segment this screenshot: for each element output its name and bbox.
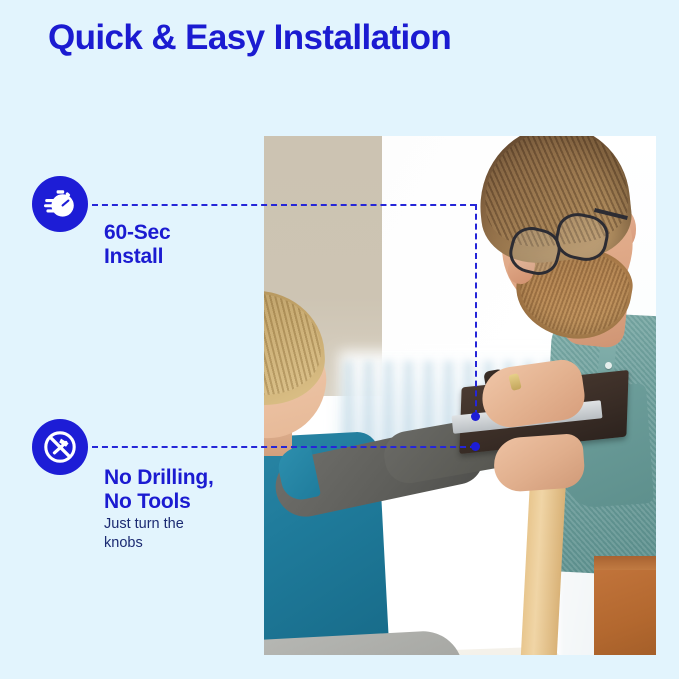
stopwatch-speed-icon [43,187,77,221]
connector-endpoint-feature-2 [471,442,480,451]
photo-man-button-bottom [605,362,612,369]
product-photo [264,136,656,655]
feature-2-subtext: Just turn the knobs [104,515,184,553]
feature-2-heading-line1: No Drilling, [104,466,214,490]
feature-2-heading-line2: No Tools [104,490,214,514]
feature-2-subtext-line2: knobs [104,534,184,553]
infographic-page: Quick & Easy Installation [0,0,679,679]
photo-man-pants [594,556,656,655]
connector-line-feature-1-vertical [475,204,477,416]
connector-line-feature-1-horizontal [92,204,476,206]
feature-badge-no-tools[interactable] [32,419,88,475]
no-hammer-icon [42,429,78,465]
feature-2-subtext-line1: Just turn the [104,515,184,534]
feature-badge-speed[interactable] [32,176,88,232]
photo-man-waistband [594,556,656,570]
connector-endpoint-feature-1 [471,412,480,421]
photo-man-hand-lower [492,433,586,493]
feature-1-heading-line2: Install [104,245,171,269]
connector-line-feature-2-horizontal [92,446,476,448]
feature-2-heading: No Drilling, No Tools [104,466,214,515]
page-title: Quick & Easy Installation [48,18,451,58]
feature-1-heading: 60-Sec Install [104,221,171,270]
feature-1-heading-line1: 60-Sec [104,221,171,245]
